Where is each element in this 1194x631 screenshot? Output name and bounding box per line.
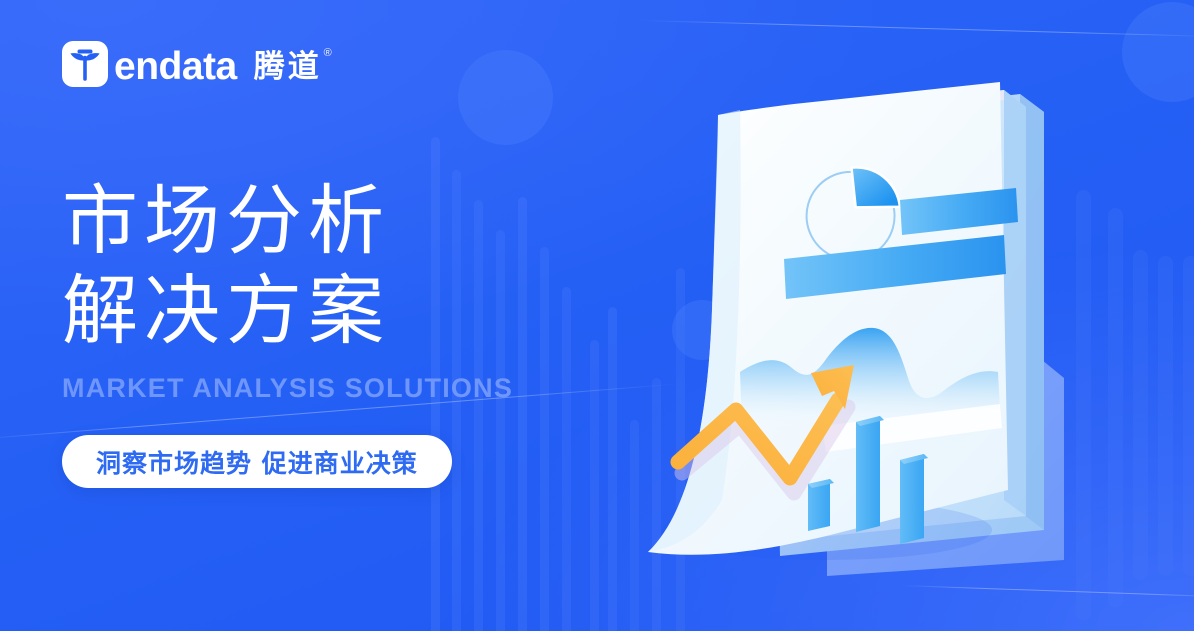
hero-subhead: MARKET ANALYSIS SOLUTIONS — [62, 373, 582, 404]
tendata-sprout-mark-icon — [62, 41, 108, 92]
logo-wordmark: endata — [114, 47, 237, 86]
hero-copy: 市场分析 解决方案 MARKET ANALYSIS SOLUTIONS 洞察市场… — [62, 176, 582, 488]
brand-logo[interactable]: endata 腾道 ® — [62, 41, 322, 92]
tagline-text: 洞察市场趋势 促进商业决策 — [96, 444, 418, 480]
decor-circle-2 — [1122, 2, 1194, 102]
decor-bar-16 — [1183, 256, 1194, 576]
market-report-document-illustration — [612, 60, 1112, 600]
decor-bar-14 — [1133, 250, 1148, 580]
headline-line-1: 市场分析 — [62, 176, 582, 266]
decor-diagonal-1 — [640, 20, 1194, 37]
decor-bar-15 — [1158, 256, 1173, 576]
tagline-pill-badge[interactable]: 洞察市场趋势 促进商业决策 — [62, 435, 452, 488]
logo-cn-name: 腾道 ® — [254, 51, 322, 82]
trademark-symbol: ® — [324, 48, 335, 59]
headline-line-2: 解决方案 — [62, 266, 582, 356]
marketing-banner: endata 腾道 ® 市场分析 解决方案 MARKET ANALYSIS SO… — [0, 0, 1194, 631]
logo-cn-text: 腾道 — [254, 49, 322, 84]
decor-bar-7 — [590, 340, 599, 631]
decor-circle-0 — [458, 50, 553, 145]
